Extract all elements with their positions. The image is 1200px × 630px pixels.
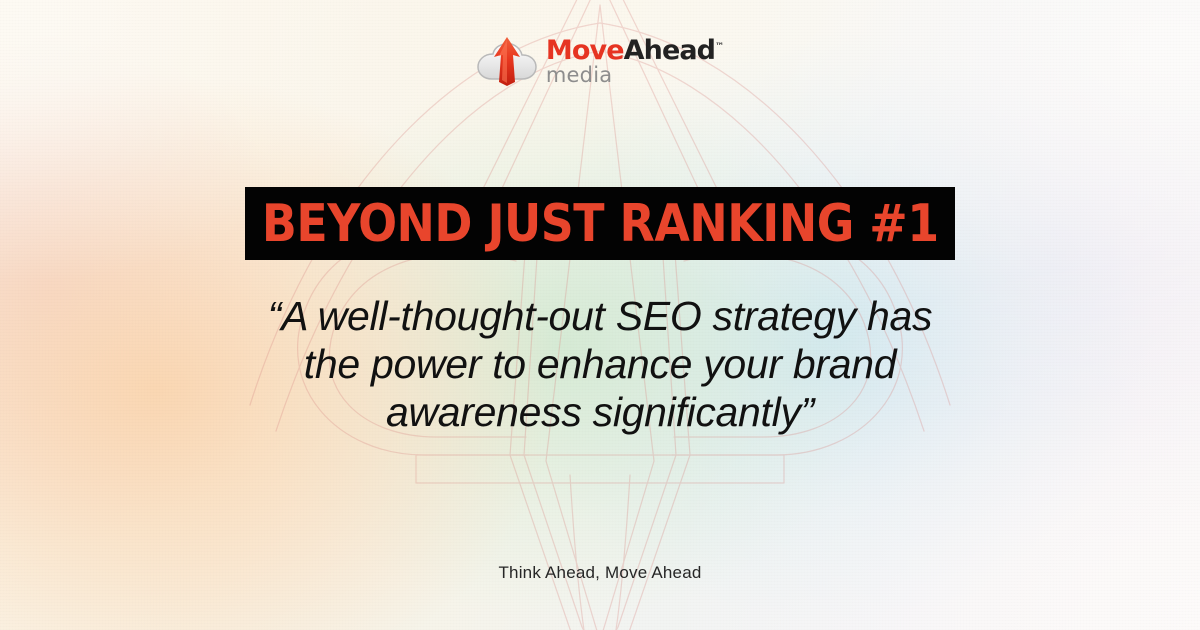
headline-banner: BEYOND JUST RANKING #1 <box>245 187 955 260</box>
logo-word-move: Move <box>546 35 624 66</box>
social-graphic-canvas: MoveAhead™ media BEYOND JUST RANKING #1 … <box>0 0 1200 630</box>
logo-word-ahead: Ahead <box>624 35 715 66</box>
logo-wordmark: MoveAhead™ <box>546 37 724 64</box>
logo-subtitle: media <box>546 65 724 86</box>
quote-line-2: the power to enhance your brand <box>150 340 1050 388</box>
brand-tagline: Think Ahead, Move Ahead <box>0 563 1200 583</box>
quote-block: “A well-thought-out SEO strategy has the… <box>0 292 1200 436</box>
trademark-symbol: ™ <box>715 42 724 52</box>
brand-logo[interactable]: MoveAhead™ media <box>0 34 1200 86</box>
quote-line-3: awareness significantly” <box>150 388 1050 436</box>
cloud-arrow-up-icon <box>476 34 538 86</box>
headline-text: BEYOND JUST RANKING #1 <box>262 198 939 250</box>
quote-line-1: “A well-thought-out SEO strategy has <box>150 292 1050 340</box>
